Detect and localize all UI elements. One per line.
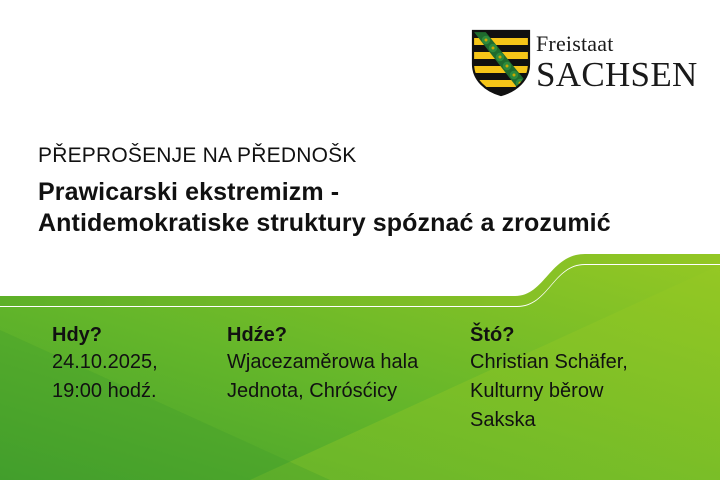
detail-when-line-1: 24.10.2025, [52, 348, 227, 377]
title-line-2: Antidemokratiske struktury spóznać a zro… [38, 208, 698, 239]
detail-heading-who: Štó? [470, 322, 710, 348]
green-top-band [0, 254, 720, 306]
logo-line-freistaat: Freistaat [536, 26, 692, 56]
detail-body-where: Wjacezaměrowa hala Jednota, Chrósćicy [227, 348, 467, 406]
detail-body-when: 24.10.2025, 19:00 hodź. [52, 348, 227, 406]
detail-heading-when: Hdy? [52, 322, 227, 348]
logo-line-sachsen: SACHSEN [536, 56, 692, 94]
detail-where-line-2: Jednota, Chrósćicy [227, 377, 467, 406]
detail-where-line-1: Wjacezaměrowa hala [227, 348, 467, 377]
detail-column-who: Štó? Christian Schäfer, Kulturny běrow S… [470, 322, 710, 435]
detail-column-where: Hdźe? Wjacezaměrowa hala Jednota, Chrósć… [227, 322, 467, 406]
event-details: Hdy? 24.10.2025, 19:00 hodź. Hdźe? Wjace… [0, 322, 720, 472]
detail-who-line-3: Sakska [470, 406, 710, 435]
detail-heading-where: Hdźe? [227, 322, 467, 348]
page-title: Prawicarski ekstremizm - Antidemokratisk… [38, 177, 698, 239]
detail-column-when: Hdy? 24.10.2025, 19:00 hodź. [52, 322, 227, 406]
headline-block: PŘEPROŠENJE NA PŘEDNOŠK Prawicarski ekst… [38, 143, 698, 239]
detail-when-line-2: 19:00 hodź. [52, 377, 227, 406]
saxony-logo-wordmark: Freistaat SACHSEN [536, 26, 692, 98]
detail-who-line-1: Christian Schäfer, [470, 348, 710, 377]
title-line-1: Prawicarski ekstremizm - [38, 177, 698, 208]
saxony-logo: Freistaat SACHSEN [470, 26, 690, 100]
poster-root: Freistaat SACHSEN PŘEPROŠENJE NA PŘEDNOŠ… [0, 0, 720, 480]
detail-who-line-2: Kulturny běrow [470, 377, 710, 406]
detail-body-who: Christian Schäfer, Kulturny běrow Sakska [470, 348, 710, 435]
saxony-coat-of-arms-icon [470, 28, 532, 98]
event-kicker: PŘEPROŠENJE NA PŘEDNOŠK [38, 143, 698, 169]
